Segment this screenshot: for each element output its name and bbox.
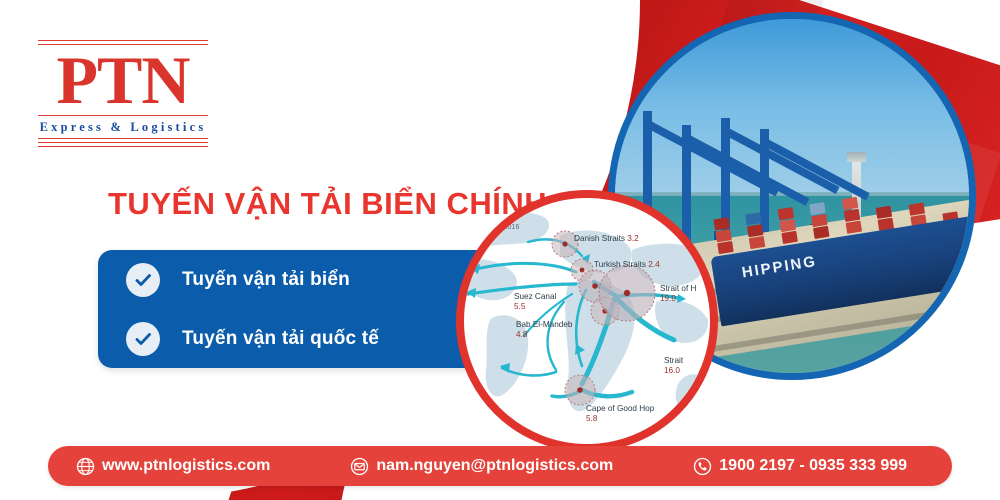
list-item[interactable]: Tuyến vận tải biển bbox=[98, 250, 496, 309]
contact-bar: www.ptnlogistics.com nam.nguyen@ptnlogis… bbox=[48, 446, 952, 486]
list-item-label: Tuyến vận tải quốc tế bbox=[182, 328, 379, 350]
check-circle-icon bbox=[126, 263, 160, 297]
website-contact[interactable]: www.ptnlogistics.com bbox=[76, 457, 270, 476]
map-label-strait-of-hormuz: Strait of H 19.0 bbox=[660, 284, 696, 305]
map-label-turkish-straits: Turkish Straits 2.4 bbox=[594, 260, 660, 269]
ship-name-label: HIPPING bbox=[741, 253, 818, 282]
map-source-note: …s …ay, 2016 bbox=[486, 214, 519, 233]
logo-rule-bottom-3 bbox=[38, 146, 208, 147]
envelope-icon bbox=[350, 457, 369, 476]
list-item[interactable]: Tuyến vận tải quốc tế bbox=[98, 309, 496, 368]
phone-contact[interactable]: 1900 2197 - 0935 333 999 bbox=[693, 457, 907, 476]
map-label-danish-straits: Danish Straits 3.2 bbox=[574, 234, 639, 243]
logo-wordmark: PTN bbox=[38, 45, 208, 115]
logo-tagline: Express & Logistics bbox=[38, 116, 208, 138]
phone-label: 1900 2197 - 0935 333 999 bbox=[719, 457, 907, 475]
phone-icon bbox=[693, 457, 712, 476]
marketing-banner: PTN Express & Logistics TUYẾN VẬN TẢI BI… bbox=[0, 0, 1000, 500]
map-label-strait-of-malacca: Strait 16.0 bbox=[664, 356, 683, 377]
world-chokepoint-map: …s …ay, 2016 Danish Straits 3.2 Turkish … bbox=[456, 190, 718, 452]
list-item-label: Tuyến vận tải biển bbox=[182, 269, 350, 291]
email-contact[interactable]: nam.nguyen@ptnlogistics.com bbox=[350, 457, 613, 476]
feature-list-box: Tuyến vận tải biển Tuyến vận tải quốc tế bbox=[98, 250, 496, 368]
map-label-cape-of-good-hope: Cape of Good Hop 5.8 bbox=[586, 404, 654, 425]
map-label-bab-el-mandeb: Bab El-Mandeb 4.8 bbox=[516, 320, 572, 341]
map-label-suez-canal: Suez Canal 5.5 bbox=[514, 292, 556, 313]
ptn-logo: PTN Express & Logistics bbox=[38, 40, 208, 147]
globe-icon bbox=[76, 457, 95, 476]
check-circle-icon bbox=[126, 322, 160, 356]
website-label: www.ptnlogistics.com bbox=[102, 457, 270, 475]
email-label: nam.nguyen@ptnlogistics.com bbox=[376, 457, 613, 475]
